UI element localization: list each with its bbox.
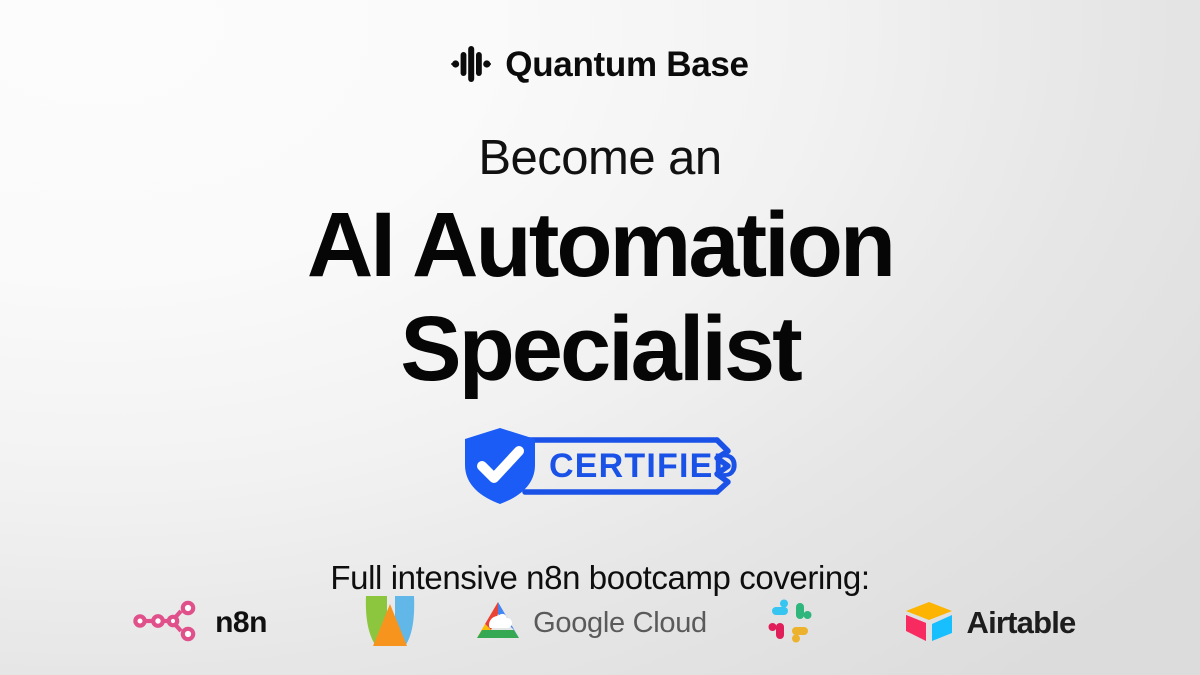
logo-label-n8n: n8n (215, 606, 267, 640)
partner-logos-row: n8n (0, 588, 1200, 658)
headline-block: Become an AI Automation Specialist (0, 134, 1200, 395)
headline-line-2: Specialist (0, 303, 1200, 395)
brand-name: Quantum Base (505, 47, 748, 82)
slide-canvas: Quantum Base Become an AI Automation Spe… (0, 0, 1200, 675)
brand-lockup: Quantum Base (451, 42, 748, 86)
affinity-a-icon (362, 590, 418, 657)
logo-label-airtable: Airtable (966, 605, 1075, 641)
certified-label: CERTIFIED (549, 447, 739, 485)
slack-icon (765, 596, 815, 651)
certified-badge: CERTIFIED (0, 425, 1200, 507)
logo-item-slack (715, 588, 865, 658)
n8n-icon (133, 599, 205, 648)
logo-item-affinity (315, 588, 465, 658)
quantum-atom-icon (451, 42, 491, 86)
logo-item-google-cloud: Google Cloud (465, 588, 715, 658)
headline-line-1: AI Automation (0, 199, 1200, 291)
logo-item-n8n: n8n (85, 588, 315, 658)
logo-item-airtable: Airtable (865, 588, 1115, 658)
google-cloud-icon (473, 599, 523, 648)
airtable-icon (904, 599, 956, 648)
logo-label-google-cloud: Google Cloud (533, 607, 707, 640)
headline-eyebrow: Become an (0, 134, 1200, 183)
